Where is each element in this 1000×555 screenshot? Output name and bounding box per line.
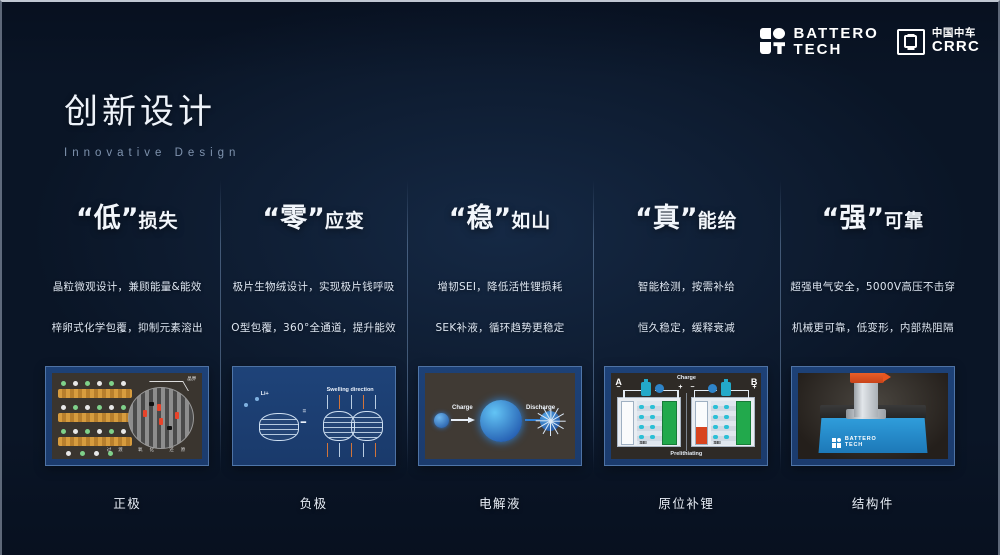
valve-body bbox=[854, 381, 878, 417]
slide-root: BATTERO TECH 中国中车 CRRC 创新设计 Innovative D… bbox=[0, 0, 1000, 555]
column-5-caption: 结构件 bbox=[780, 493, 966, 512]
battero-mark-icon bbox=[760, 28, 786, 55]
column-3-line-2: SEK补液，循环趋势更稳定 bbox=[413, 320, 587, 335]
crrc-logo: 中国中车 CRRC bbox=[897, 28, 980, 56]
module-battero-logo: BATTERO TECH bbox=[832, 437, 877, 449]
cell-a-sei-label: SEI bbox=[639, 440, 646, 445]
column-1-line-2: 梓卵式化学包覆，抑制元素溶出 bbox=[40, 320, 214, 335]
column-5-heading-quote: 强 bbox=[839, 203, 866, 234]
lattice-grain-circle-icon bbox=[128, 387, 194, 449]
lattice-layers-icon bbox=[58, 381, 132, 457]
cells-divider bbox=[686, 393, 687, 451]
graphite-particle-icon bbox=[259, 413, 299, 441]
li-ion-label: Li+ bbox=[261, 391, 269, 397]
swelling-direction-label: Swelling direction bbox=[327, 387, 374, 393]
column-2-heading-quote: 零 bbox=[280, 203, 307, 234]
column-2-heading-suffix: 应变 bbox=[325, 210, 365, 232]
cell-a-plus: + bbox=[678, 384, 682, 391]
column-4-line-1: 智能检测，按需补给 bbox=[599, 279, 773, 294]
column-4-heading: “真”能给 bbox=[635, 196, 738, 235]
column-1-caption: 正极 bbox=[34, 493, 220, 512]
prelithiating-label: Prelithiating bbox=[670, 451, 702, 457]
column-1-heading-quote: 低 bbox=[94, 203, 121, 234]
column-5-lines: 超强电气安全，5000V高压不击穿 机械更可靠，低变形，内部热阻隔 bbox=[786, 279, 960, 335]
structural-component-render: BATTERO TECH bbox=[798, 373, 948, 459]
feature-column-5: “强”可靠 超强电气安全，5000V高压不击穿 机械更可靠，低变形，内部热阻隔 bbox=[780, 180, 966, 520]
crrc-mark-icon bbox=[897, 29, 925, 55]
column-3-line-1: 增韧SEI，降低活性锂损耗 bbox=[413, 279, 587, 294]
module-logo-line2: TECH bbox=[845, 443, 877, 449]
column-1-line-1: 晶粒微观设计，兼顾能量&能效 bbox=[40, 279, 214, 294]
charge-arrow-icon bbox=[451, 417, 475, 423]
column-3-image-card[interactable]: Charge Discharge bbox=[418, 366, 582, 466]
cracked-particle-icon bbox=[535, 406, 565, 436]
column-2-line-2: O型包覆，360°全通道，提升能效 bbox=[226, 320, 400, 335]
column-4-line-2: 恒久稳定，缓释衰减 bbox=[599, 320, 773, 335]
column-1-heading: “低”损失 bbox=[76, 196, 179, 235]
column-3-caption: 电解液 bbox=[407, 493, 593, 512]
graphite-eq-label: = bbox=[303, 409, 307, 415]
cell-a: − + SEI bbox=[617, 397, 681, 447]
valve-cap-arrow-icon bbox=[850, 373, 884, 383]
feature-column-1: “低”损失 晶粒微观设计，兼顾能量&能效 梓卵式化学包覆，抑制元素溶出 bbox=[34, 180, 220, 520]
column-5-heading: “强”可靠 bbox=[822, 196, 925, 235]
page-subtitle: Innovative Design bbox=[64, 147, 240, 159]
load-icon bbox=[708, 384, 717, 393]
page-title: 创新设计 bbox=[64, 84, 240, 133]
feature-column-3: “稳”如山 增韧SEI，降低活性锂损耗 SEK补液，循环趋势更稳定 Charge… bbox=[407, 180, 593, 520]
column-4-heading-suffix: 能给 bbox=[698, 210, 738, 232]
lithium-ion-dot-icon bbox=[244, 403, 248, 407]
column-4-lines: 智能检测，按需补给 恒久稳定，缓释衰减 bbox=[599, 279, 773, 335]
battero-logo-line2: TECH bbox=[793, 42, 878, 58]
load-icon bbox=[655, 384, 664, 393]
expanded-particle-icon bbox=[480, 400, 522, 442]
crrc-logo-en: CRRC bbox=[932, 39, 980, 55]
graphite-swelling-diagram: Li+ = ▬ Swelling direction bbox=[239, 373, 389, 459]
column-3-heading-suffix: 如山 bbox=[511, 210, 551, 232]
charge-discharge-diagram: Charge Discharge bbox=[425, 373, 575, 459]
battero-tech-logo: BATTERO TECH bbox=[760, 26, 878, 58]
column-4-image-card[interactable]: A B Charge − + bbox=[604, 366, 768, 466]
feature-columns: “低”损失 晶粒微观设计，兼顾能量&能效 梓卵式化学包覆，抑制元素溶出 bbox=[34, 180, 966, 520]
cells-charge-label: Charge bbox=[677, 375, 696, 381]
column-4-caption: 原位补锂 bbox=[593, 493, 779, 512]
column-3-heading: “稳”如山 bbox=[449, 196, 552, 235]
column-2-image-card[interactable]: Li+ = ▬ Swelling direction bbox=[232, 366, 396, 466]
column-5-line-1: 超强电气安全，5000V高压不击穿 bbox=[786, 279, 960, 294]
column-3-lines: 增韧SEI，降低活性锂损耗 SEK补液，循环趋势更稳定 bbox=[413, 279, 587, 335]
column-5-heading-suffix: 可靠 bbox=[884, 210, 924, 232]
page-title-block: 创新设计 Innovative Design bbox=[64, 84, 240, 159]
battery-icon bbox=[641, 382, 651, 396]
crystal-lattice-diagram: 晶界 过渡 氧化 还原 bbox=[52, 373, 202, 459]
column-3-heading-quote: 稳 bbox=[467, 203, 494, 234]
cell-b-plus: + bbox=[752, 384, 756, 391]
lithium-ion-dot-icon bbox=[255, 397, 259, 401]
small-particle-icon bbox=[434, 413, 449, 428]
column-2-heading: “零”应变 bbox=[262, 196, 365, 235]
feature-column-4: “真”能给 智能检测，按需补给 恒久稳定，缓释衰减 A B Charge − bbox=[593, 180, 779, 520]
battero-logo-line1: BATTERO bbox=[793, 26, 878, 42]
lattice-callout-line bbox=[149, 381, 189, 391]
column-2-caption: 负极 bbox=[220, 493, 406, 512]
cell-a-minus: − bbox=[616, 384, 620, 391]
column-4-heading-quote: 真 bbox=[653, 203, 680, 234]
header-logos: BATTERO TECH 中国中车 CRRC bbox=[760, 26, 980, 58]
feature-column-2: “零”应变 极片生物绒设计，实现极片钱呼吸 O型包覆，360°全通道，提升能效 … bbox=[220, 180, 406, 520]
graphite-particle-icon bbox=[351, 411, 383, 441]
battery-icon bbox=[721, 382, 731, 396]
column-1-image-card[interactable]: 晶界 过渡 氧化 还原 bbox=[45, 366, 209, 466]
graphite-equals-sign: ▬ bbox=[301, 419, 307, 425]
column-2-line-1: 极片生物绒设计，实现极片钱呼吸 bbox=[226, 279, 400, 294]
charge-label: Charge bbox=[452, 405, 473, 411]
column-1-heading-suffix: 损失 bbox=[138, 210, 178, 232]
column-5-line-2: 机械更可靠，低变形，内部热阻隔 bbox=[786, 320, 960, 335]
prelithiation-cell-diagram: A B Charge − + bbox=[611, 373, 761, 459]
cell-b: − + SEI bbox=[691, 397, 755, 447]
cell-b-sei-label: SEI bbox=[713, 440, 720, 445]
column-2-lines: 极片生物绒设计，实现极片钱呼吸 O型包覆，360°全通道，提升能效 bbox=[226, 279, 400, 335]
column-1-lines: 晶粒微观设计，兼顾能量&能效 梓卵式化学包覆，抑制元素溶出 bbox=[40, 279, 214, 335]
lattice-axis-label: 过渡 氧化 还原 bbox=[107, 447, 193, 453]
column-5-image-card[interactable]: BATTERO TECH bbox=[791, 366, 955, 466]
lattice-callout-label: 晶界 bbox=[187, 376, 196, 382]
